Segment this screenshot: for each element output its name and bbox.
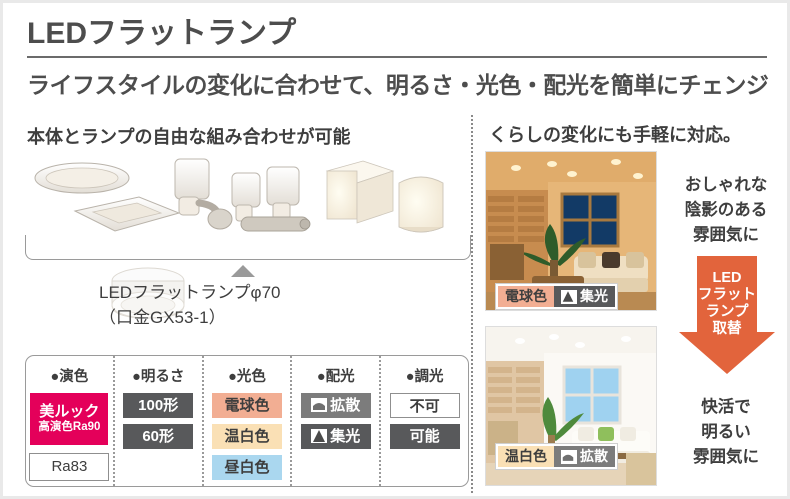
caption-bright: 温白色 拡散 xyxy=(496,444,617,469)
curved-bracket-light-icon xyxy=(399,177,443,232)
biruku-sublabel: 高演色Ra90 xyxy=(30,421,108,434)
header-subtitle: ライフスタイルの変化に合わせて、明るさ・光色・配光を簡単にチェンジ xyxy=(27,66,769,100)
chip-kakusan-label: 拡散 xyxy=(330,397,360,414)
caption-dist-label: 集光 xyxy=(554,286,615,307)
caption-warm: 電球色 集光 xyxy=(496,284,617,309)
spec-table: ●演色 美ルック 高演色Ra90 Ra83 ●明るさ 100形 60形 ●光色 … xyxy=(25,355,469,487)
right-text-bottom: 快活で 明るい 雰囲気に xyxy=(663,395,789,469)
infographic-page: LEDフラットランプ ライフスタイルの変化に合わせて、明るさ・光色・配光を簡単に… xyxy=(0,0,790,499)
spot-triangle-icon xyxy=(561,290,577,304)
header: LEDフラットランプ ライフスタイルの変化に合わせて、明るさ・光色・配光を簡単に… xyxy=(27,17,769,100)
chip-onpakushoku[interactable]: 温白色 xyxy=(212,424,282,449)
arrow-badge-label: LED フラット ランプ 取替 xyxy=(679,270,775,338)
spot-triangle-icon xyxy=(311,429,327,443)
wall-spotlight-icon xyxy=(175,159,232,229)
chip-hirushiroshoku[interactable]: 昼白色 xyxy=(212,455,282,480)
column-header: ●配光 xyxy=(317,365,355,386)
spec-column-brightness: ●明るさ 100形 60形 xyxy=(113,356,202,486)
chip-kakusan[interactable]: 拡散 xyxy=(301,393,371,418)
spec-column-distribution: ●配光 拡散 集光 xyxy=(290,356,379,486)
fixture-lineup xyxy=(27,153,467,245)
column-header: ●明るさ xyxy=(132,365,184,386)
chip-kanou[interactable]: 可能 xyxy=(390,424,460,449)
column-header: ●調光 xyxy=(406,365,444,386)
ra83-chip[interactable]: Ra83 xyxy=(29,453,109,481)
spec-column-color-rendering: ●演色 美ルック 高演色Ra90 Ra83 xyxy=(26,356,113,486)
right-text-top: おしゃれな 陰影のある 雰囲気に xyxy=(663,173,789,247)
square-downlight-icon xyxy=(75,197,179,231)
chip-shuukou-label: 集光 xyxy=(330,428,360,445)
panel-divider xyxy=(471,115,473,493)
double-spotlight-icon xyxy=(232,167,310,231)
header-rule xyxy=(27,56,767,58)
chip-denkyuusyoku[interactable]: 電球色 xyxy=(212,393,282,418)
chip-fuka[interactable]: 不可 xyxy=(390,393,460,418)
up-arrow-icon xyxy=(231,265,255,277)
cube-bracket-light-icon xyxy=(327,161,393,223)
page-title: LEDフラットランプ xyxy=(27,17,769,50)
lamp-caption-line1: LEDフラットランプφ70 xyxy=(99,281,281,306)
lamp-caption: LEDフラットランプφ70 （口金GX53-1） xyxy=(99,281,281,330)
biruku-label: 美ルック xyxy=(30,404,108,420)
chip-60gata[interactable]: 60形 xyxy=(123,424,193,449)
fixture-bracket xyxy=(25,235,471,260)
column-header: ●光色 xyxy=(228,365,266,386)
column-header: ●演色 xyxy=(51,365,89,386)
caption-color-label: 電球色 xyxy=(498,286,554,307)
diffuse-dome-icon xyxy=(561,450,577,464)
right-section-title: くらしの変化にも手軽に対応。 xyxy=(489,121,741,147)
diffuse-dome-icon xyxy=(311,398,327,412)
spec-column-dimming: ●調光 不可 可能 xyxy=(379,356,468,486)
spec-column-light-color: ●光色 電球色 温白色 昼白色 xyxy=(202,356,291,486)
chip-shuukou[interactable]: 集光 xyxy=(301,424,371,449)
lamp-caption-line2: （口金GX53-1） xyxy=(99,306,281,331)
caption-color-label: 温白色 xyxy=(498,446,554,467)
left-section-title: 本体とランプの自由な組み合わせが可能 xyxy=(27,123,350,149)
chip-100gata[interactable]: 100形 xyxy=(123,393,193,418)
lamp-swap-arrow-badge: LED フラット ランプ 取替 xyxy=(679,256,775,374)
caption-dist-label: 拡散 xyxy=(554,446,615,467)
round-downlight-icon xyxy=(35,163,129,193)
biruku-badge[interactable]: 美ルック 高演色Ra90 xyxy=(30,393,108,445)
